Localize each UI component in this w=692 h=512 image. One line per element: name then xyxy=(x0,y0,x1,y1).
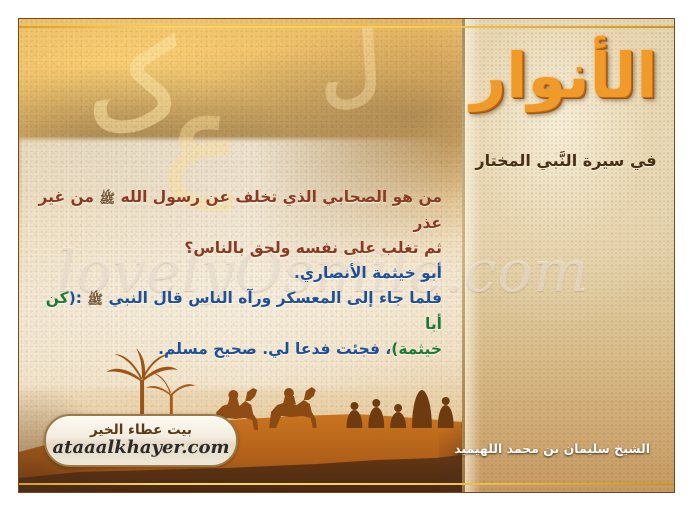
author-credit: الشيخ سليمان بن محمد اللهيميد xyxy=(454,441,650,456)
sallallahu-alayhi-wasallam-icon: ﷺ xyxy=(87,288,103,313)
narration-source-text: ، فجئت فدعا لي. صحيح مسلم. xyxy=(158,340,391,358)
gold-rule-top xyxy=(19,26,674,28)
logo-arabic-name: بيت عطاء الخير xyxy=(90,423,192,438)
question-text-prefix: من هو الصحابي الذي تخلف عن رسول الله xyxy=(121,188,442,206)
quote-body: من هو الصحابي الذي تخلف عن رسول الله ﷺ م… xyxy=(35,185,442,362)
question-line-1: من هو الصحابي الذي تخلف عن رسول الله ﷺ م… xyxy=(35,185,442,236)
title-panel: الأنوار في سيرة النَّبي المختار xyxy=(462,19,674,492)
logo-website-url: ataaalkhayer.com xyxy=(52,438,229,458)
panel-divider xyxy=(462,19,465,492)
site-logo-badge[interactable]: بيت عطاء الخير ataaalkhayer.com xyxy=(44,414,238,467)
answer-line: أبو خيثمة الأنصاري. xyxy=(35,261,442,286)
page-title: الأنوار xyxy=(468,45,660,107)
quote-open-paren: :( xyxy=(69,289,82,307)
page-subtitle: في سيرة النَّبي المختار xyxy=(468,151,664,170)
card-frame: ک ع ل xyxy=(18,18,675,493)
islamic-quote-card: ک ع ل xyxy=(0,0,692,512)
question-line-2: ثم تغلب على نفسه ولحق بالناس؟ xyxy=(35,236,442,261)
narration-line-2: خيثمة)، فجئت فدعا لي. صحيح مسلم. xyxy=(35,337,442,362)
gold-rule-bottom xyxy=(19,483,674,485)
narration-text-prefix: فلما جاء إلى المعسكر ورآه الناس قال النب… xyxy=(109,289,442,307)
sallallahu-alayhi-wasallam-icon: ﷺ xyxy=(99,187,115,212)
narration-line-1: فلما جاء إلى المعسكر ورآه الناس قال النب… xyxy=(35,286,442,337)
hadith-quote-end: خيثمة) xyxy=(391,340,442,358)
